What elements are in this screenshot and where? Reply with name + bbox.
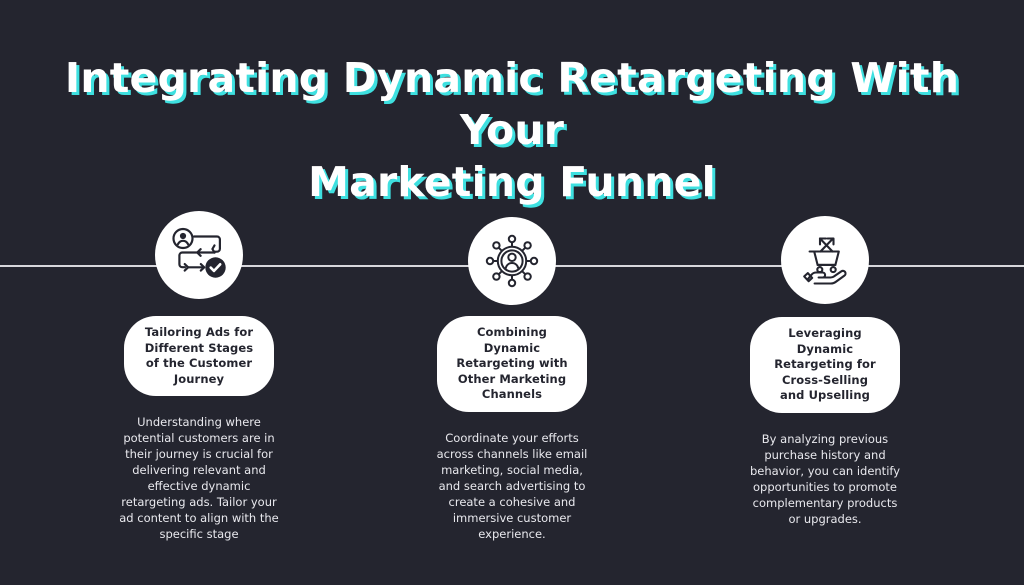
feature-heading-3: Leveraging Dynamic Retargeting for Cross…	[768, 326, 882, 404]
page-title: Integrating Dynamic Retargeting With You…	[0, 52, 1024, 208]
feature-heading-pill-2: Combining Dynamic Retargeting with Other…	[437, 316, 587, 412]
feature-column-2: Combining Dynamic Retargeting with Other…	[356, 200, 669, 542]
feature-heading-pill-3: Leveraging Dynamic Retargeting for Cross…	[750, 317, 900, 413]
feature-body-2: Coordinate your efforts across channels …	[432, 430, 592, 542]
network-hub-person-icon	[468, 217, 556, 305]
cart-in-hand-cross-sell-icon	[781, 216, 869, 304]
feature-column-1: Tailoring Ads for Different Stages of th…	[43, 200, 356, 542]
feature-heading-2: Combining Dynamic Retargeting with Other…	[455, 325, 569, 403]
feature-heading-1: Tailoring Ads for Different Stages of th…	[142, 325, 256, 387]
feature-columns: Tailoring Ads for Different Stages of th…	[0, 200, 1024, 542]
feature-column-3: Leveraging Dynamic Retargeting for Cross…	[669, 200, 982, 527]
feature-body-3: By analyzing previous purchase history a…	[745, 431, 905, 527]
feature-body-1: Understanding where potential customers …	[119, 414, 279, 542]
customer-journey-icon	[155, 211, 243, 299]
page-title-line-1: Integrating Dynamic Retargeting With You…	[60, 52, 964, 156]
feature-heading-pill-1: Tailoring Ads for Different Stages of th…	[124, 316, 274, 396]
